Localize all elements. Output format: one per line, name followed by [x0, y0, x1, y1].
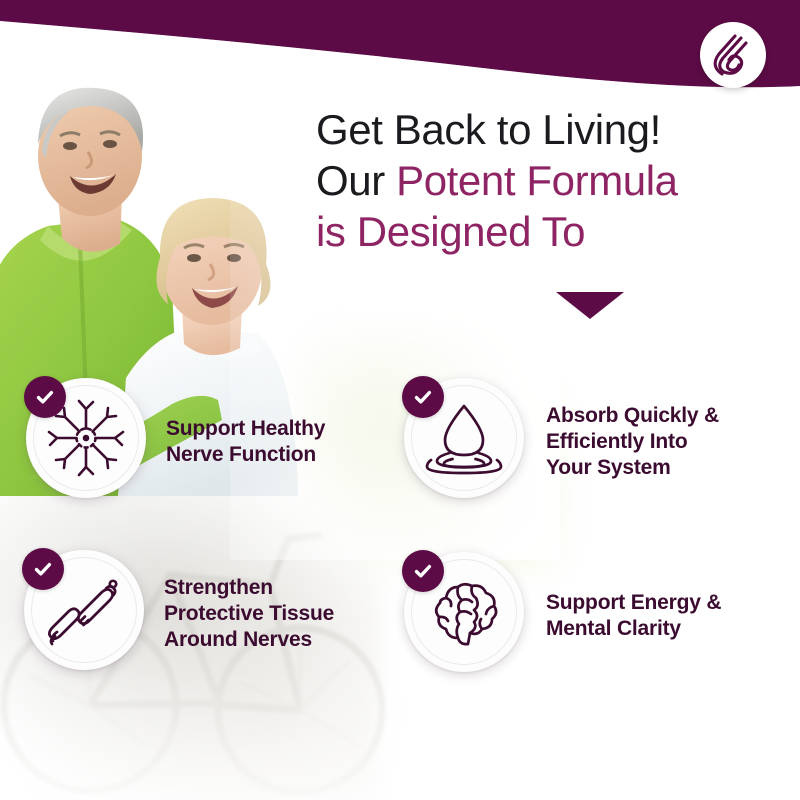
check-badge	[24, 376, 66, 418]
check-badge	[402, 376, 444, 418]
feature-label: Support Energy & Mental Clarity	[546, 590, 721, 642]
headline-line-2: Our Potent Formula	[316, 155, 786, 206]
check-icon	[34, 386, 56, 408]
feature-label: Support Healthy Nerve Function	[166, 416, 325, 468]
advertisement-canvas: Get Back to Living! Our Potent Formula i…	[0, 0, 800, 800]
feature-label: Strengthen Protective Tissue Around Nerv…	[164, 575, 334, 653]
check-icon	[412, 560, 434, 582]
triangle-down-icon	[556, 292, 624, 319]
feature-label: Absorb Quickly & Efficiently Into Your S…	[546, 403, 719, 481]
check-icon	[412, 386, 434, 408]
feature-icon-wrap	[404, 378, 532, 506]
feature-item-nerve-function[interactable]: Support Healthy Nerve Function	[26, 378, 325, 506]
check-badge	[402, 550, 444, 592]
feature-icon-wrap	[404, 552, 532, 680]
headline-line-2-plain: Our	[316, 157, 396, 204]
feature-icon-wrap	[26, 378, 154, 506]
headline-line-2-accent: Potent Formula	[396, 157, 678, 204]
feature-item-energy-clarity[interactable]: Support Energy & Mental Clarity	[404, 552, 721, 680]
headline-line-1: Get Back to Living!	[316, 104, 786, 155]
feature-item-protective-tissue[interactable]: Strengthen Protective Tissue Around Nerv…	[24, 550, 334, 678]
spiral-swirl-logo-icon	[710, 32, 756, 78]
feature-item-absorption[interactable]: Absorb Quickly & Efficiently Into Your S…	[404, 378, 719, 506]
headline-line-3: is Designed To	[316, 206, 786, 257]
check-badge	[22, 548, 64, 590]
page-headline: Get Back to Living! Our Potent Formula i…	[316, 104, 786, 257]
check-icon	[32, 558, 54, 580]
banner-curve-shape	[0, 0, 800, 120]
brand-logo[interactable]	[700, 22, 766, 88]
feature-icon-wrap	[24, 550, 152, 678]
top-banner	[0, 0, 800, 120]
